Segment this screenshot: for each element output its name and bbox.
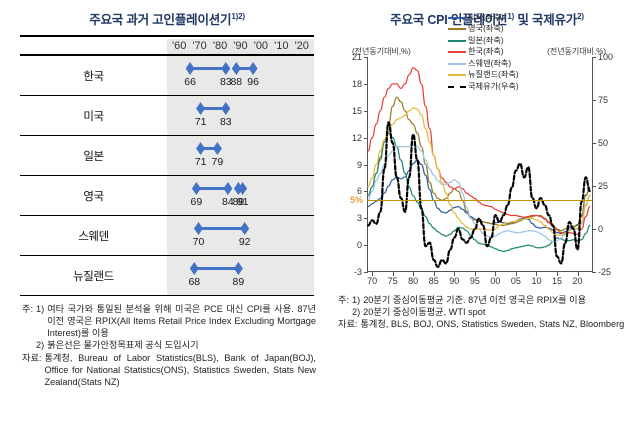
right-note-label: 주:	[338, 294, 352, 306]
period-bar	[196, 187, 228, 190]
left-note-1-num: 1)	[36, 303, 47, 339]
country-label-영국: 영국	[20, 176, 167, 216]
series-line-뉴질랜드(좌축)	[368, 108, 590, 235]
y-axis-left-tick	[364, 245, 368, 246]
figure-container: 주요국 과거 고인플레이션기1)2) '60'70'80'90'00'10'20…	[0, 0, 640, 423]
period-start-marker	[190, 262, 199, 275]
table-body: 한국66838896미국7183일본7179영국69848991스웨덴7092뉴…	[20, 55, 314, 296]
period-start-year-label: 71	[195, 116, 207, 128]
table-row: 뉴질랜드6889	[20, 256, 314, 296]
legend-swatch-icon	[448, 51, 466, 53]
period-end-year-label: 96	[247, 76, 259, 88]
x-axis-label-7: 05	[511, 276, 521, 286]
legend-label: 스웨덴(좌축)	[468, 60, 511, 68]
y-axis-left-label-8: -3	[354, 267, 362, 277]
legend-label: 국제유가(우축)	[468, 83, 519, 91]
y-axis-right-tick	[592, 186, 596, 187]
decade-labels: '60'70'80'90'00'10'20	[167, 40, 314, 52]
left-source: 자료: 통계청, Bureau of Labor Statistics(BLS)…	[22, 352, 316, 388]
y-axis-right-label-5: -25	[598, 267, 611, 277]
period-end-marker	[240, 222, 249, 235]
decade-label-5: '10	[274, 40, 288, 52]
left-panel: 주요국 과거 고인플레이션기1)2) '60'70'80'90'00'10'20…	[0, 0, 334, 423]
country-timeline-영국: 69848991	[167, 176, 314, 216]
country-label-미국: 미국	[20, 96, 167, 136]
y-axis-right-label-1: 75	[598, 95, 608, 105]
table-row: 한국66838896	[20, 55, 314, 96]
legend-item-0[interactable]: 미국(좌축)	[448, 12, 519, 24]
period-bar	[190, 67, 226, 70]
y-axis-right-tick	[592, 100, 596, 101]
left-note-2: 2) 붉은선은 물가안정목표제 공식 도입시기	[22, 339, 316, 351]
table-row: 스웨덴7092	[20, 216, 314, 256]
series-line-한국(좌축)	[368, 68, 590, 235]
y-axis-left-label-2: 15	[352, 106, 362, 116]
period-end-year-label: 79	[212, 156, 224, 168]
y-axis-left-label-3: 12	[352, 133, 362, 143]
country-label-한국: 한국	[20, 55, 167, 96]
x-axis-label-1: 75	[388, 276, 398, 286]
table-row: 영국69848991	[20, 176, 314, 216]
period-start-marker	[192, 182, 201, 195]
y-axis-left-label-1: 18	[352, 79, 362, 89]
x-axis-label-6: 00	[490, 276, 500, 286]
right-source-label: 자료:	[338, 318, 360, 330]
left-notes: 주: 1) 여타 국가와 통일된 분석을 위해 미국은 PCE 대신 CPI를 …	[14, 303, 320, 388]
table-header-row: '60'70'80'90'00'10'20	[20, 39, 314, 55]
legend-item-5[interactable]: 뉴질랜드(좌축)	[448, 70, 519, 82]
x-axis-label-4: 90	[449, 276, 459, 286]
y-axis-left-label-6: 3	[357, 213, 362, 223]
y-axis-left-tick	[364, 191, 368, 192]
legend-item-1[interactable]: 영국(좌축)	[448, 24, 519, 36]
period-start-year-label: 88	[230, 76, 242, 88]
right-note-1-num: 1)	[352, 294, 363, 306]
period-end-marker	[249, 62, 258, 75]
y-axis-left-label-7: 0	[357, 240, 362, 250]
table-header-blank	[20, 39, 167, 55]
timeline-plot-area: 7183	[167, 96, 314, 135]
legend-label: 미국(좌축)	[468, 14, 504, 22]
period-end-marker	[213, 142, 222, 155]
left-note-2-text: 붉은선은 물가안정목표제 공식 도입시기	[47, 339, 316, 351]
period-start-marker	[186, 62, 195, 75]
x-axis-label-2: 80	[408, 276, 418, 286]
y-axis-right-label-4: 0	[598, 224, 603, 234]
y-axis-right-tick	[592, 229, 596, 230]
y-axis-left-tick	[364, 272, 368, 273]
legend-swatch-icon	[448, 63, 466, 65]
period-end-year-label: 92	[239, 236, 251, 248]
right-notes: 주: 1) 20분기 중심이동평균 기준. 87년 이전 영국은 RPIX를 이…	[338, 294, 638, 330]
country-timeline-한국: 66838896	[167, 55, 314, 96]
timeline-plot-area: 66838896	[167, 56, 314, 95]
country-label-뉴질랜드: 뉴질랜드	[20, 256, 167, 296]
right-source: 자료: 통계청, BLS, BOJ, ONS, Statistics Swede…	[338, 318, 638, 330]
period-start-year-label: 66	[184, 76, 196, 88]
series-line-미국(좌축)	[368, 160, 590, 233]
right-note-2-text: 20분기 중심이동평균, WTI spot	[363, 306, 638, 318]
x-axis-label-8: 10	[531, 276, 541, 286]
right-source-text: 통계청, BLS, BOJ, ONS, Statistics Sweden, S…	[360, 318, 638, 330]
y-axis-left-tick	[364, 165, 368, 166]
decade-label-1: '70	[192, 40, 206, 52]
timeline-plot-area: 7179	[167, 136, 314, 175]
legend-label: 영국(좌축)	[468, 25, 504, 33]
legend-label: 한국(좌축)	[468, 48, 504, 56]
left-note-1-text: 여타 국가와 통일된 분석을 위해 미국은 PCE 대신 CPI를 사용. 87…	[47, 303, 316, 339]
country-label-일본: 일본	[20, 136, 167, 176]
period-end-marker	[234, 262, 243, 275]
period-start-year-label: 70	[193, 236, 205, 248]
legend-label: 일본(좌축)	[468, 37, 504, 45]
legend-item-4[interactable]: 스웨덴(좌축)	[448, 58, 519, 70]
x-axis-label-9: 15	[552, 276, 562, 286]
right-note-1: 주: 1) 20분기 중심이동평균 기준. 87년 이전 영국은 RPIX를 이…	[338, 294, 638, 306]
period-end-year-label: 89	[233, 276, 245, 288]
reference-line-label: 5%	[350, 195, 363, 205]
period-end-year-label: 91	[237, 196, 249, 208]
decade-label-4: '00	[254, 40, 268, 52]
country-timeline-스웨덴: 7092	[167, 216, 314, 256]
legend-item-6[interactable]: 국제유가(우축)	[448, 81, 519, 93]
period-bar	[199, 227, 245, 230]
y-axis-left-label-0: 21	[352, 52, 362, 62]
x-axis-label-0: 70	[367, 276, 377, 286]
x-axis-label-3: 85	[429, 276, 439, 286]
decade-label-2: '80	[213, 40, 227, 52]
right-panel: 주요국 CPI 인플레이션1) 및 국제유가2) (전년동기대비,%) (전년동…	[334, 0, 640, 423]
table-row: 일본7179	[20, 136, 314, 176]
timeline-plot-area: 7092	[167, 216, 314, 255]
legend-swatch-icon	[448, 40, 466, 42]
reference-line-5pct	[368, 200, 592, 201]
left-note-2-num: 2)	[36, 339, 47, 351]
y-axis-left-tick	[364, 218, 368, 219]
decade-header-cell: '60'70'80'90'00'10'20	[167, 39, 314, 55]
right-note-2: 2) 20분기 중심이동평균, WTI spot	[338, 306, 638, 318]
period-start-year-label: 71	[195, 156, 207, 168]
legend-label: 뉴질랜드(좌축)	[468, 71, 519, 79]
decade-label-0: '60	[172, 40, 186, 52]
left-note-1: 주: 1) 여타 국가와 통일된 분석을 위해 미국은 PCE 대신 CPI를 …	[22, 303, 316, 339]
legend-swatch-icon	[448, 17, 466, 19]
left-source-label: 자료:	[22, 352, 44, 388]
chart-legend: 미국(좌축)영국(좌축)일본(좌축)한국(좌축)스웨덴(좌축)뉴질랜드(좌축)국…	[448, 12, 519, 93]
y-axis-left-tick	[364, 138, 368, 139]
country-timeline-미국: 7183	[167, 96, 314, 136]
left-title-superscript: 1)2)	[231, 12, 244, 21]
y-axis-right-label-2: 50	[598, 138, 608, 148]
y-axis-right-label-0: 100	[598, 52, 613, 62]
y-axis-left-label-4: 9	[357, 160, 362, 170]
period-start-marker	[196, 142, 205, 155]
period-end-marker	[223, 182, 232, 195]
left-panel-title: 주요국 과거 고인플레이션기1)2)	[14, 0, 320, 35]
legend-item-3[interactable]: 한국(좌축)	[448, 47, 519, 59]
timeline-plot-area: 69848991	[167, 176, 314, 215]
legend-swatch-icon	[448, 86, 466, 88]
left-title-text: 주요국 과거 고인플레이션기	[89, 13, 231, 27]
period-bar	[194, 267, 238, 270]
inflation-periods-table-wrap: '60'70'80'90'00'10'20 한국66838896미국7183일본…	[20, 35, 314, 296]
period-end-marker	[221, 62, 230, 75]
country-timeline-뉴질랜드: 6889	[167, 256, 314, 296]
timeline-plot-area: 6889	[167, 256, 314, 295]
legend-swatch-icon	[448, 28, 466, 30]
period-start-marker	[232, 62, 241, 75]
period-start-marker	[196, 102, 205, 115]
period-end-year-label: 83	[220, 116, 232, 128]
right-title-superscript-2: 2)	[577, 12, 584, 21]
period-start-year-label: 68	[188, 276, 200, 288]
y-axis-left-tick	[364, 84, 368, 85]
decade-label-3: '90	[233, 40, 247, 52]
y-axis-right-tick	[592, 143, 596, 144]
right-title-mid: 및 국제유가	[514, 13, 577, 27]
y-axis-right-tick	[592, 272, 596, 273]
legend-swatch-icon	[448, 74, 466, 76]
series-line-일본(좌축)	[368, 133, 590, 251]
period-start-marker	[194, 222, 203, 235]
y-axis-left-tick	[364, 111, 368, 112]
legend-item-2[interactable]: 일본(좌축)	[448, 35, 519, 47]
country-timeline-일본: 7179	[167, 136, 314, 176]
x-axis-label-10: 20	[573, 276, 583, 286]
inflation-periods-table: '60'70'80'90'00'10'20 한국66838896미국7183일본…	[20, 35, 314, 296]
series-line-국제유가(우축)	[368, 122, 590, 266]
y-axis-right-label-3: 25	[598, 181, 608, 191]
decade-label-6: '20	[295, 40, 309, 52]
right-note-1-text: 20분기 중심이동평균 기준. 87년 이전 영국은 RPIX를 이용	[363, 294, 638, 306]
period-start-year-label: 69	[191, 196, 203, 208]
series-line-스웨덴(좌축)	[368, 144, 590, 242]
country-label-스웨덴: 스웨덴	[20, 216, 167, 256]
left-source-text: 통계청, Bureau of Labor Statistics(BLS), Ba…	[44, 352, 316, 388]
right-note-2-num: 2)	[352, 306, 363, 318]
y-axis-left-tick	[364, 57, 368, 58]
left-note-label: 주:	[22, 303, 36, 339]
table-row: 미국7183	[20, 96, 314, 136]
period-end-marker	[221, 102, 230, 115]
x-axis-label-5: 95	[470, 276, 480, 286]
y-axis-right-tick	[592, 57, 596, 58]
